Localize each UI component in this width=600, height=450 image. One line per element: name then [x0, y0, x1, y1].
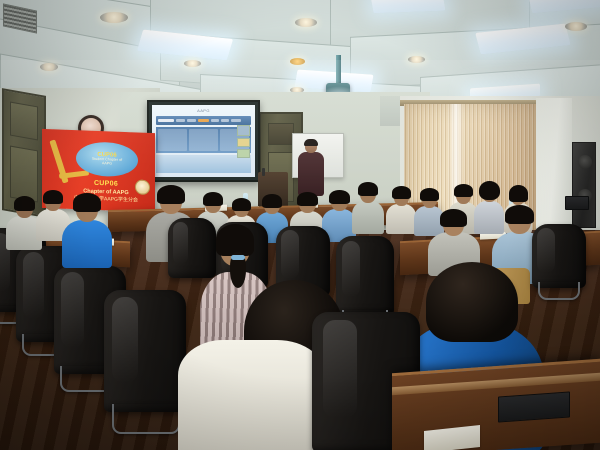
microphone-icon	[262, 168, 265, 176]
slide-navbar	[156, 116, 251, 125]
projected-slide: AAPG	[152, 105, 255, 177]
attendee-white-shirt-foreground	[178, 330, 328, 450]
projection-screen: AAPG	[147, 100, 260, 182]
downlight-icon	[295, 18, 317, 27]
slide-thumbnail	[237, 125, 250, 136]
attendee-blue-tshirt	[62, 194, 112, 266]
downlight-icon	[290, 58, 305, 65]
presenter	[296, 140, 326, 196]
laptop	[565, 196, 589, 210]
banner-logo-line3: AAPG	[102, 162, 112, 166]
chair[interactable]	[104, 290, 186, 412]
attendee	[322, 190, 356, 238]
projector-mount	[336, 55, 341, 85]
downlight-icon	[565, 22, 587, 31]
slide-title: AAPG	[152, 108, 255, 113]
downlight-icon	[100, 12, 128, 23]
conference-room-photo: AAPG	[0, 0, 600, 450]
laptop	[498, 391, 570, 422]
downlight-icon	[40, 63, 58, 71]
slide-thumbnail	[237, 138, 250, 147]
wall-speaker	[572, 142, 596, 228]
ceiling-light-panel	[528, 0, 600, 13]
downlight-icon	[184, 60, 201, 67]
slide-thumbnail	[237, 149, 250, 158]
hair-tie	[231, 255, 245, 260]
attendee	[386, 186, 416, 230]
chair-leg	[112, 404, 180, 434]
downlight-icon	[408, 56, 425, 63]
chair-leg	[538, 282, 580, 300]
attendee	[352, 182, 384, 230]
